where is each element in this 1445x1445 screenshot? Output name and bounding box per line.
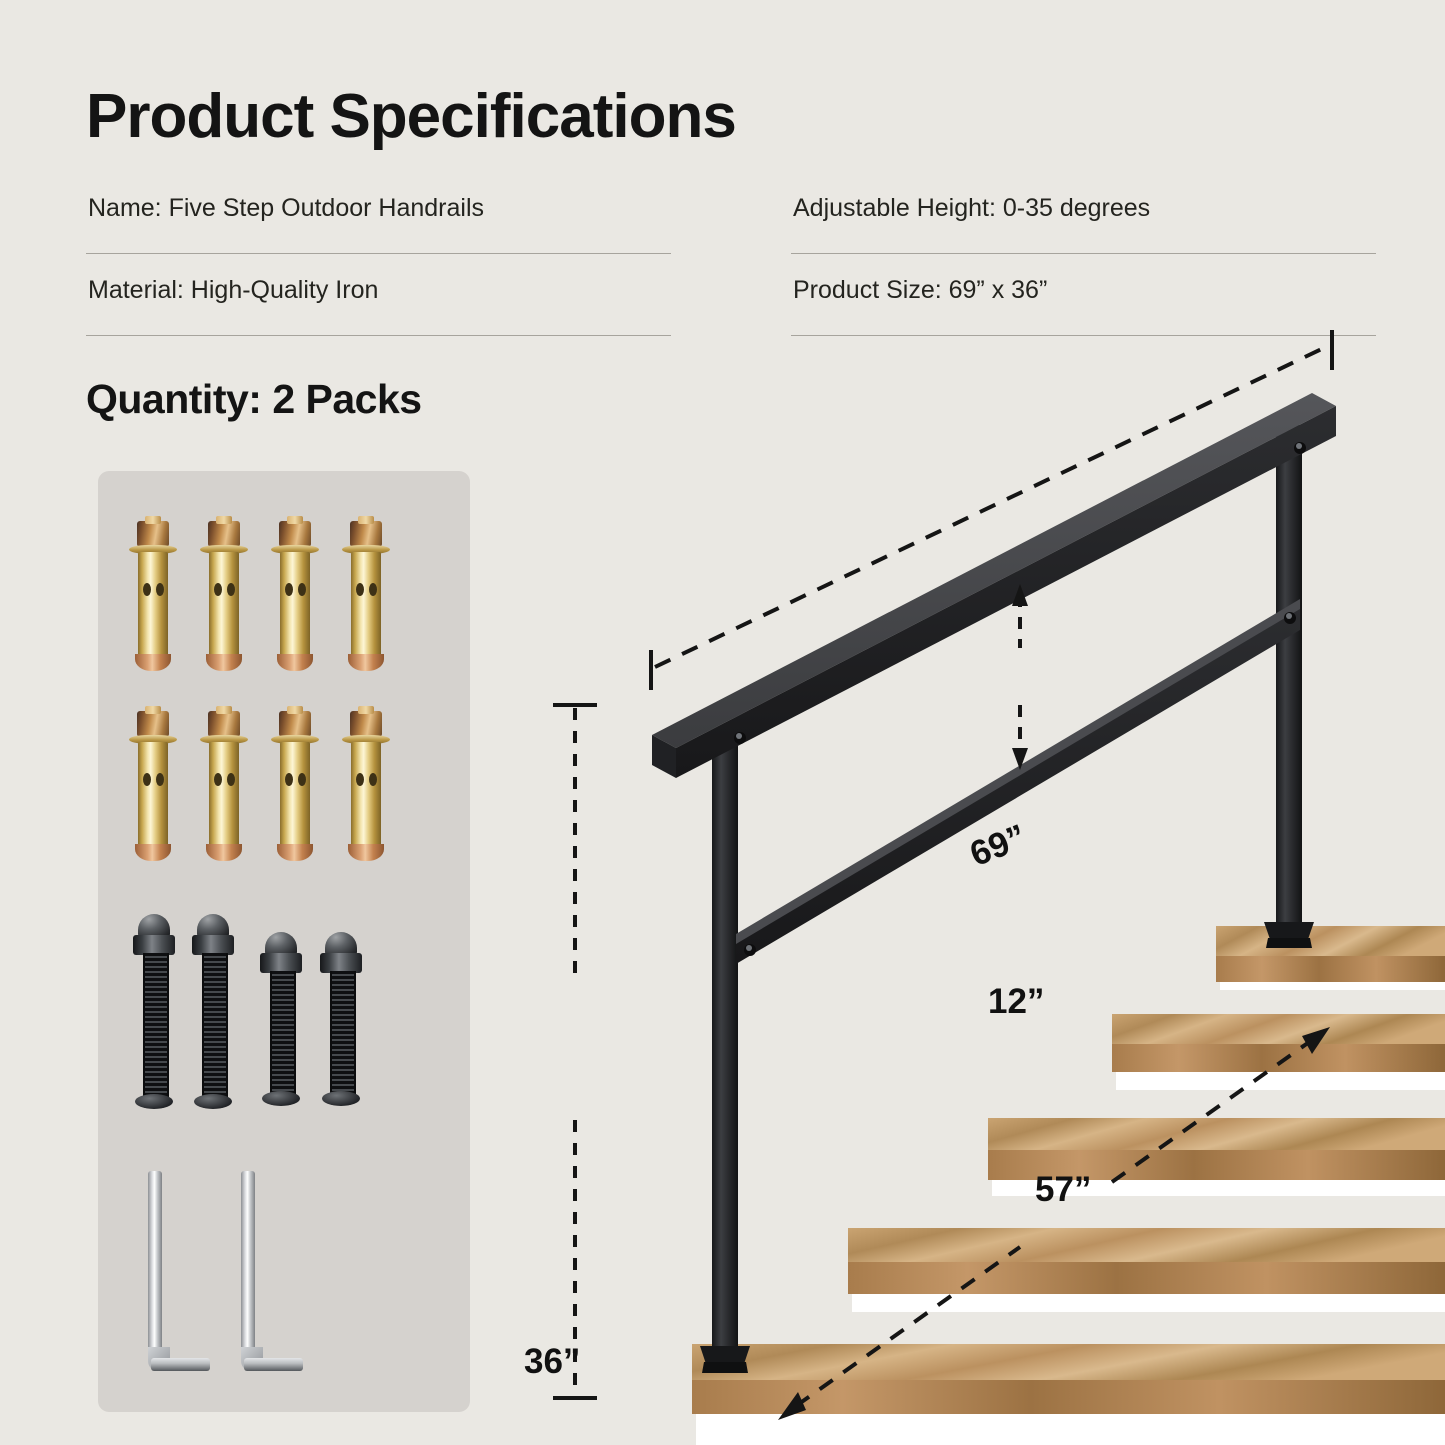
anchor-hole	[156, 773, 164, 786]
dimension-69	[651, 330, 1332, 690]
hardware-contents-panel	[98, 471, 470, 1412]
handrail-illustration	[500, 330, 1445, 1445]
anchor-hole	[214, 583, 222, 596]
anchor-hole	[298, 773, 306, 786]
expansion-anchor-bolt-icon	[202, 521, 246, 671]
quantity-heading: Quantity: 2 Packs	[86, 376, 422, 423]
stair-step	[1216, 926, 1445, 990]
hex-key-stem	[148, 1171, 162, 1353]
bolt-hex-nut	[260, 953, 302, 973]
spec-column-left: Name: Five Step Outdoor Handrails Materi…	[86, 186, 671, 350]
spec-item-label: Product Size: 69” x 36”	[793, 278, 1047, 303]
anchor-hole	[143, 583, 151, 596]
anchor-nut	[137, 521, 169, 547]
anchor-sleeve	[209, 742, 239, 846]
anchor-hole	[227, 773, 235, 786]
spec-item-name: Name: Five Step Outdoor Handrails	[86, 186, 671, 268]
bolt-head	[322, 1091, 360, 1106]
bolt-hex-nut	[192, 935, 234, 955]
stair-step	[692, 1344, 1445, 1445]
expansion-anchor-bolt-icon	[273, 521, 317, 671]
expansion-anchor-bolt-icon	[273, 711, 317, 861]
expansion-anchor-bolt-icon	[131, 521, 175, 671]
anchor-hole	[285, 583, 293, 596]
anchor-tip	[135, 654, 171, 671]
handrail-post-right	[1264, 425, 1314, 948]
handrail-post-left	[700, 730, 750, 1373]
bolt-hex-nut	[133, 935, 175, 955]
bolt-thread	[270, 971, 296, 1095]
hex-key-stem	[241, 1171, 255, 1353]
page-title: Product Specifications	[86, 84, 736, 149]
bolt-thread	[330, 971, 356, 1095]
expansion-anchor-bolt-icon	[344, 711, 388, 861]
spec-item-label: Name: Five Step Outdoor Handrails	[88, 196, 484, 221]
anchor-nut	[137, 711, 169, 737]
anchor-nut	[279, 711, 311, 737]
anchor-nut	[208, 711, 240, 737]
anchor-hole	[369, 773, 377, 786]
anchor-sleeve	[280, 552, 310, 656]
anchor-hole	[227, 583, 235, 596]
anchor-hole	[143, 773, 151, 786]
bolt-thread	[143, 953, 169, 1098]
expansion-anchor-bolt-icon	[202, 711, 246, 861]
hex-key-arm	[244, 1358, 303, 1371]
handrail-diagram: 69” 12” 57” 36”	[500, 330, 1445, 1445]
dimension-label-36: 36”	[524, 1342, 580, 1382]
spec-divider	[791, 253, 1376, 254]
bolt-head	[262, 1091, 300, 1106]
anchor-sleeve	[280, 742, 310, 846]
anchor-hole	[356, 583, 364, 596]
anchor-hole	[156, 583, 164, 596]
anchor-tip	[348, 844, 384, 861]
expansion-anchor-bolt-icon	[131, 711, 175, 861]
bolt-hex-nut	[320, 953, 362, 973]
anchor-hole	[369, 583, 377, 596]
stair-step	[848, 1228, 1445, 1312]
anchor-sleeve	[351, 742, 381, 846]
bolt-head	[135, 1094, 173, 1109]
bolt-head	[194, 1094, 232, 1109]
dimension-12	[1012, 584, 1028, 770]
anchor-hole	[214, 773, 222, 786]
anchor-sleeve	[209, 552, 239, 656]
spec-item-label: Adjustable Height: 0-35 degrees	[793, 196, 1150, 221]
anchor-sleeve	[138, 742, 168, 846]
dimension-label-57: 57”	[1035, 1170, 1091, 1210]
anchor-hole	[298, 583, 306, 596]
hex-key-icon	[241, 1171, 303, 1371]
anchor-nut	[350, 711, 382, 737]
anchor-sleeve	[351, 552, 381, 656]
anchor-nut	[350, 521, 382, 547]
hex-key-icon	[148, 1171, 210, 1371]
handrail-top-rail	[652, 393, 1336, 778]
anchor-nut	[279, 521, 311, 547]
expansion-anchor-bolt-icon	[344, 521, 388, 671]
anchor-tip	[206, 844, 242, 861]
anchor-tip	[348, 654, 384, 671]
anchor-hole	[285, 773, 293, 786]
anchor-tip	[206, 654, 242, 671]
anchor-tip	[277, 844, 313, 861]
spec-item-label: Material: High-Quality Iron	[88, 278, 378, 303]
dimension-label-12: 12”	[988, 982, 1044, 1022]
anchor-nut	[208, 521, 240, 547]
anchor-hole	[356, 773, 364, 786]
hex-key-arm	[151, 1358, 210, 1371]
anchor-tip	[277, 654, 313, 671]
spec-column-right: Adjustable Height: 0-35 degrees Product …	[791, 186, 1376, 350]
anchor-tip	[135, 844, 171, 861]
product-spec-page: Product Specifications Name: Five Step O…	[0, 0, 1445, 1445]
spec-item-adjustable-height: Adjustable Height: 0-35 degrees	[791, 186, 1376, 268]
spec-divider	[86, 253, 671, 254]
stair-step	[1112, 1014, 1445, 1090]
anchor-sleeve	[138, 552, 168, 656]
dimension-36	[553, 705, 597, 1398]
bolt-thread	[202, 953, 228, 1098]
